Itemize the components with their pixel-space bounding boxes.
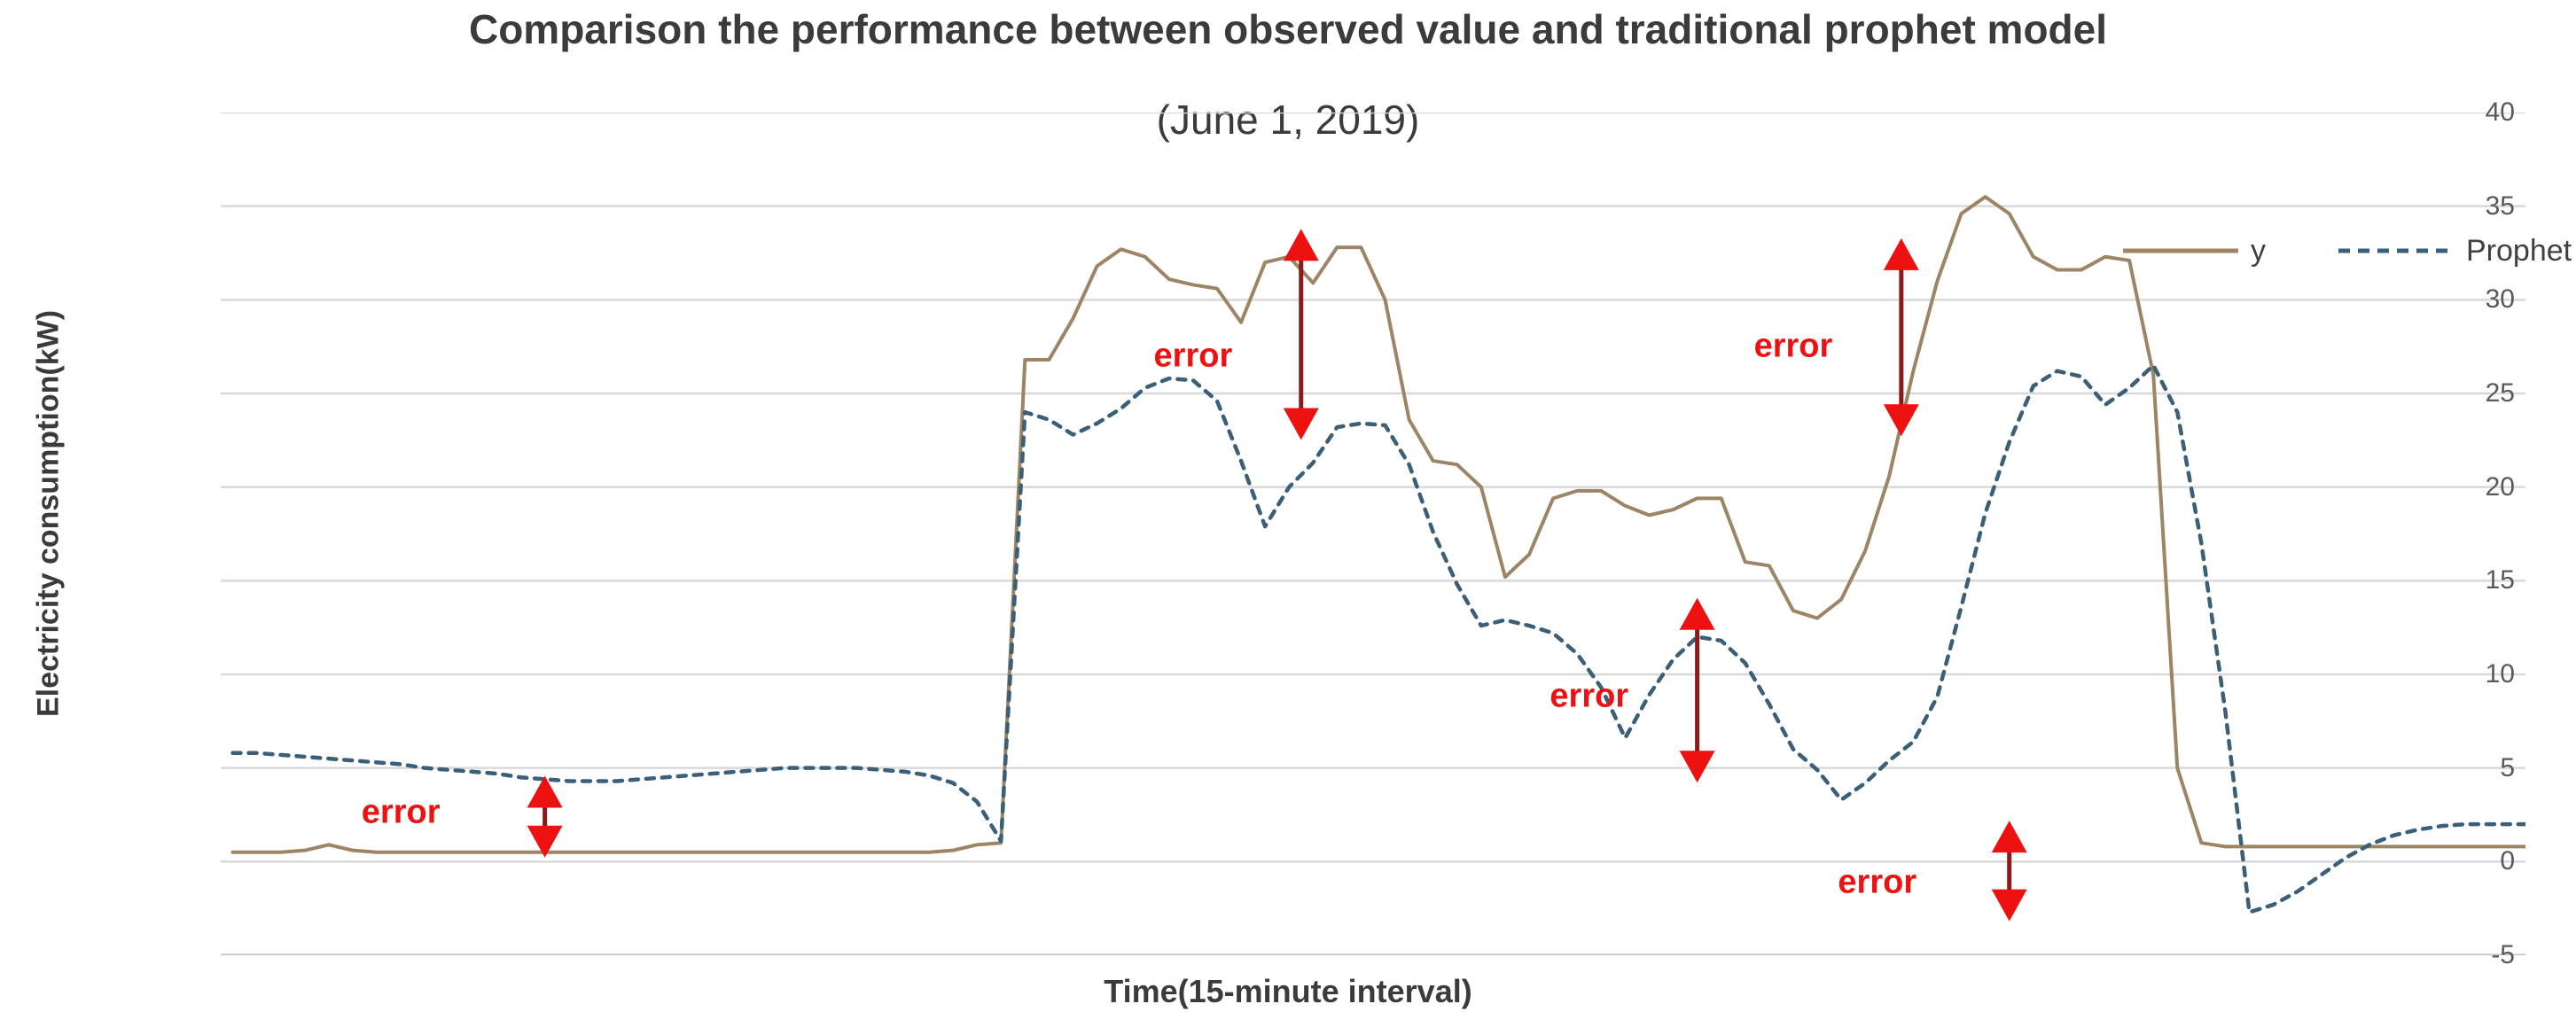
y-axis-title: Electricity consumption(kW) [32, 195, 66, 833]
error-arrow-0 [527, 775, 563, 857]
series-line-prophet [233, 365, 2525, 912]
y-tick-label: 0 [2435, 846, 2515, 876]
error-annotation-label: error [1838, 863, 1916, 901]
legend-swatch-dashed-line-icon [2338, 245, 2454, 257]
y-tick-label: 40 [2435, 97, 2515, 128]
error-arrow-1 [1284, 229, 1319, 440]
y-tick-label: 15 [2435, 565, 2515, 595]
series-line-y [233, 197, 2525, 852]
y-tick-label: 30 [2435, 284, 2515, 315]
chart-canvas: Comparison the performance between obser… [0, 0, 2576, 1035]
error-arrow-head-up [1680, 598, 1715, 630]
legend-label-prophet: Prophet [2466, 236, 2572, 266]
y-tick-label: 5 [2435, 753, 2515, 783]
error-arrow-3 [1884, 238, 1919, 436]
legend-swatch-solid-line-icon [2123, 245, 2238, 257]
y-tick-label: 20 [2435, 472, 2515, 502]
error-arrow-head-down [1884, 404, 1919, 436]
error-arrow-head-up [1884, 238, 1919, 270]
chart-legend: y Prophet [2123, 236, 2572, 266]
y-tick-label: 25 [2435, 378, 2515, 409]
error-arrow-2 [1680, 598, 1715, 783]
error-annotation-label: error [1154, 337, 1233, 375]
y-tick-label: -5 [2435, 940, 2515, 970]
error-arrow-head-up [1284, 229, 1319, 261]
x-axis-title: Time(15-minute interval) [0, 973, 2576, 1010]
legend-item-prophet[interactable]: Prophet [2338, 236, 2572, 266]
error-annotation-label: error [1754, 328, 1833, 366]
y-tick-label: 10 [2435, 659, 2515, 689]
legend-item-y[interactable]: y [2123, 236, 2266, 266]
y-tick-label: 35 [2435, 191, 2515, 222]
error-annotation-label: error [362, 794, 441, 832]
legend-label-y: y [2251, 236, 2266, 266]
error-arrow-head-up [1992, 821, 2027, 852]
error-annotation-label: error [1550, 678, 1628, 716]
error-arrow-head-down [1680, 751, 1715, 782]
error-arrow-4 [1992, 821, 2027, 921]
chart-title: Comparison the performance between obser… [0, 5, 2576, 53]
error-arrow-head-down [1284, 408, 1319, 440]
error-arrow-head-down [1992, 890, 2027, 922]
